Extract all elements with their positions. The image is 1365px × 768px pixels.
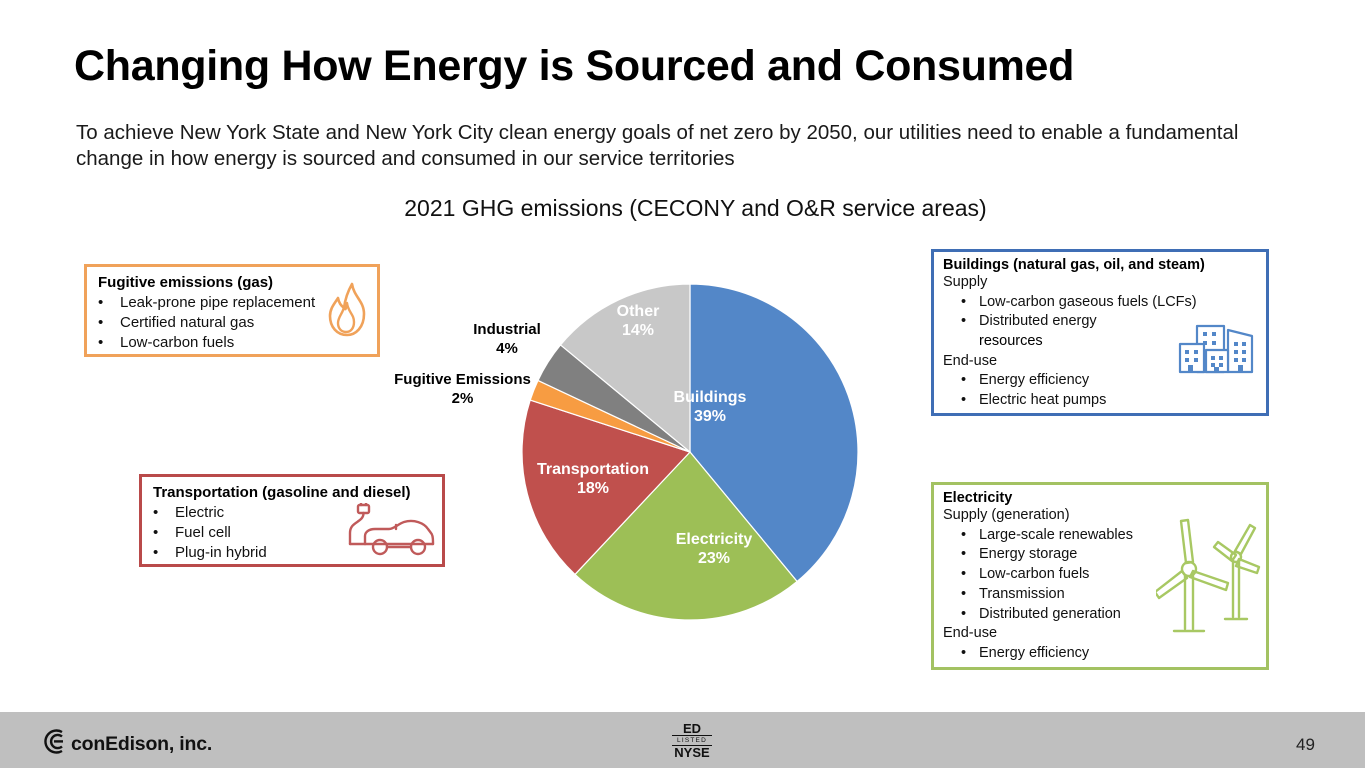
list-item-label: Leak-prone pipe replacement xyxy=(120,294,315,311)
pie-slice-label-electricity: Electricity23% xyxy=(655,530,773,568)
pie-slice-label-buildings: Buildings39% xyxy=(650,388,770,426)
callout-heading-transportation: Transportation (gasoline and diesel) xyxy=(153,484,432,501)
electric-car-icon xyxy=(344,503,436,566)
bullet-icon: • xyxy=(98,333,103,353)
slide-subtitle: To achieve New York State and New York C… xyxy=(76,120,1256,172)
list-item-label: Fuel cell xyxy=(175,524,231,541)
conedison-logo-text: conEdison, inc. xyxy=(71,733,212,756)
bullet-icon: • xyxy=(98,293,103,313)
pie-slice-label-industrial: Industrial4% xyxy=(437,320,577,358)
bullet-icon: • xyxy=(961,605,966,625)
bullet-icon: • xyxy=(153,543,158,563)
flame-icon xyxy=(323,281,369,350)
list-item-label: Certified natural gas xyxy=(120,314,254,331)
bullet-icon: • xyxy=(98,313,103,333)
list-item-label: Transmission xyxy=(979,586,1065,602)
bullet-icon: • xyxy=(961,312,966,332)
buildings-icon xyxy=(1176,314,1258,387)
callout-heading-electricity: Electricity xyxy=(943,490,1258,506)
conedison-mark-icon xyxy=(30,729,64,759)
bullet-icon: • xyxy=(961,585,966,605)
bullet-icon: • xyxy=(961,391,966,411)
list-item: •Energy efficiency xyxy=(943,644,1258,664)
bullet-icon: • xyxy=(961,371,966,391)
chart-title: 2021 GHG emissions (CECONY and O&R servi… xyxy=(0,195,1365,222)
pie-chart: Buildings39% Electricity23% Transportati… xyxy=(500,262,890,642)
bullet-icon: • xyxy=(961,293,966,313)
list-item-label: Electric xyxy=(175,504,224,521)
conedison-logo: conEdison, inc. xyxy=(30,729,212,759)
callout-box-transportation: Transportation (gasoline and diesel) •El… xyxy=(139,474,445,567)
bullet-icon: • xyxy=(153,503,158,523)
pie-slice-label-transportation: Transportation18% xyxy=(518,460,668,498)
list-item-label: Low-carbon gaseous fuels (LCFs) xyxy=(979,294,1197,310)
callout-heading-buildings: Buildings (natural gas, oil, and steam) xyxy=(943,257,1258,273)
bullet-icon: • xyxy=(961,565,966,585)
list-item-label: Large-scale renewables xyxy=(979,527,1133,543)
wind-turbine-icon xyxy=(1156,505,1262,638)
list-item-label: Distributed energy xyxy=(979,313,1097,329)
list-item-label: Distributed generation xyxy=(979,606,1121,622)
list-item-label: Low-carbon fuels xyxy=(120,334,234,351)
page-number: 49 xyxy=(1296,735,1315,755)
list-item-label: Energy storage xyxy=(979,546,1077,562)
callout-box-electricity: Electricity Supply (generation) •Large-s… xyxy=(931,482,1269,670)
page-title: Changing How Energy is Sourced and Consu… xyxy=(74,42,1074,91)
list-item: •Electric heat pumps xyxy=(943,391,1258,411)
pie-chart-svg xyxy=(500,262,890,642)
list-item-label: Electric heat pumps xyxy=(979,392,1106,408)
nyse-listed-badge: ED LISTED NYSE xyxy=(672,722,712,760)
chart-title-text: 2021 GHG emissions (CECONY and O&R servi… xyxy=(404,195,986,221)
callout-list-electricity-enduse: •Energy efficiency xyxy=(943,644,1258,664)
list-item-label: Low-carbon fuels xyxy=(979,566,1089,582)
slide-canvas: Changing How Energy is Sourced and Consu… xyxy=(0,0,1365,768)
list-item: •Low-carbon gaseous fuels (LCFs) xyxy=(943,293,1258,313)
bullet-icon: • xyxy=(961,644,966,664)
bullet-icon: • xyxy=(961,545,966,565)
list-item-label: Energy efficiency xyxy=(979,645,1089,661)
bullet-icon: • xyxy=(153,523,158,543)
list-item-label: Plug-in hybrid xyxy=(175,544,267,561)
list-item-label: Energy efficiency xyxy=(979,372,1089,388)
bullet-icon: • xyxy=(961,526,966,546)
nyse-ticker: ED xyxy=(672,722,712,735)
pie-slice-label-other: Other14% xyxy=(593,302,683,340)
callout-subheading-supply: Supply xyxy=(943,273,1258,293)
nyse-exchange-label: NYSE xyxy=(672,746,712,760)
callout-box-buildings: Buildings (natural gas, oil, and steam) … xyxy=(931,249,1269,416)
callout-box-fugitive-emissions: Fugitive emissions (gas) •Leak-prone pip… xyxy=(84,264,380,357)
pie-slice-label-fugitive-emissions: Fugitive Emissions2% xyxy=(370,370,555,408)
